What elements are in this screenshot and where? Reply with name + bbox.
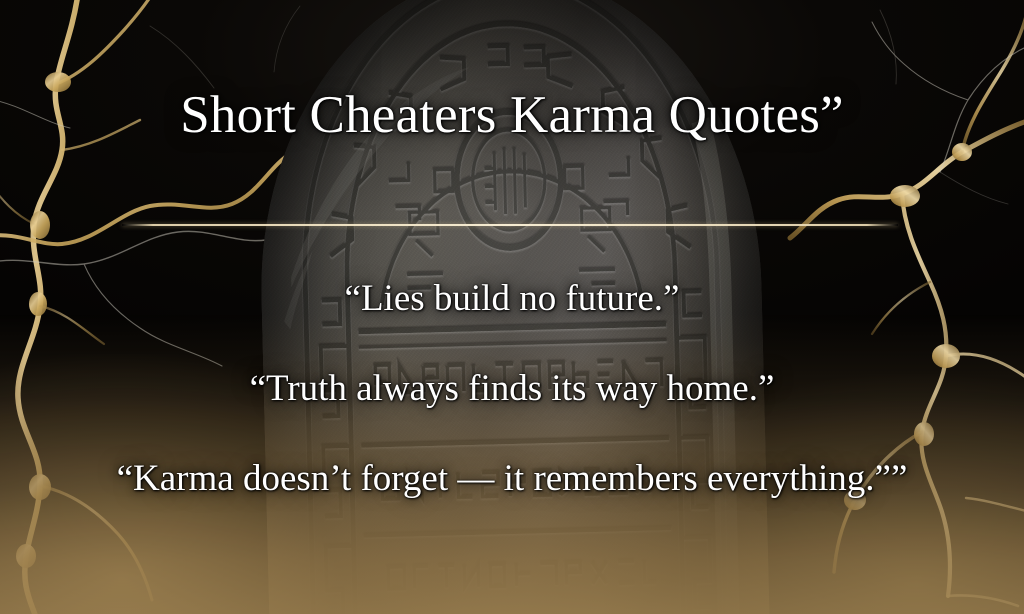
quote-graphic-canvas: Short Cheaters Karma Quotes” “Lies build… — [0, 0, 1024, 614]
page-title: Short Cheaters Karma Quotes” — [0, 88, 1024, 144]
quote-line-3: “Karma doesn’t forget — it remembers eve… — [0, 457, 1024, 500]
gold-divider-rule — [122, 224, 898, 226]
quote-line-2: “Truth always finds its way home.” — [0, 367, 1024, 410]
quote-line-1: “Lies build no future.” — [0, 277, 1024, 320]
text-content: Short Cheaters Karma Quotes” “Lies build… — [0, 0, 1024, 614]
